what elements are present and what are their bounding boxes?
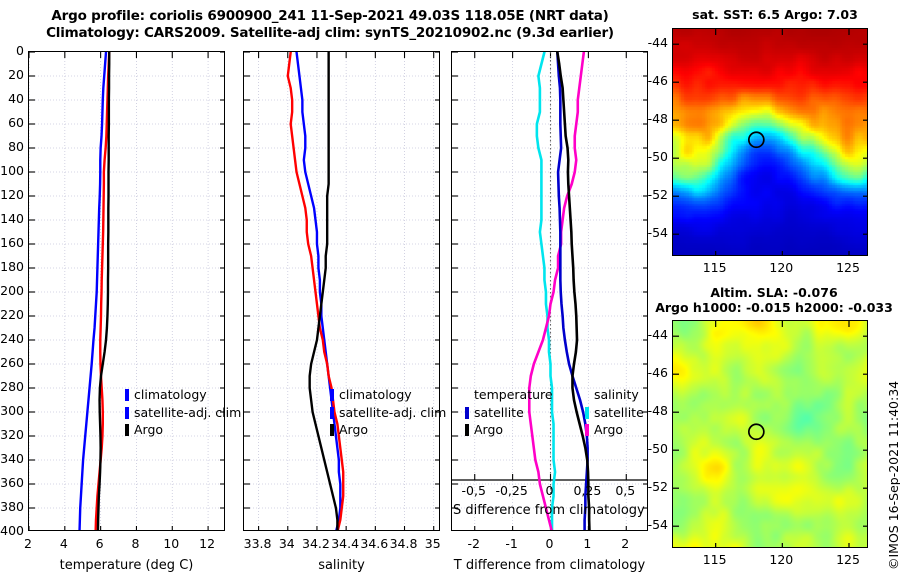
sla-map-lon-tick-120: 120 <box>759 552 803 567</box>
legend-swatch-icon <box>330 389 334 401</box>
difference-profile-panel[interactable] <box>451 51 648 531</box>
depth-tick-200: 200 <box>0 283 24 298</box>
sla-map-lon-tick-115: 115 <box>693 552 737 567</box>
salinity-profile-panel[interactable] <box>243 51 440 531</box>
sla-map-title-line1: Altim. SLA: -0.076 <box>648 285 900 300</box>
legend-swatch-icon <box>330 424 334 436</box>
sla-map-title-line2: Argo h1000: -0.015 h2000: -0.033 <box>648 300 900 315</box>
sla-map-lon-tick-125: 125 <box>826 552 870 567</box>
salinity-axis-label: salinity <box>243 558 440 573</box>
legend-item: Argo <box>585 421 639 439</box>
legend-label: Argo <box>594 421 623 439</box>
legend-swatch-icon <box>585 424 589 436</box>
main-title-line1: Argo profile: coriolis 6900900_241 11-Se… <box>0 8 660 25</box>
temperature-axis-label: temperature (deg C) <box>28 558 225 573</box>
legend-swatch-icon <box>125 407 129 419</box>
sst-map-lon-tick-125: 125 <box>826 260 870 275</box>
legend-label: satellite-adj. clim <box>339 404 446 422</box>
legend-label: Argo <box>339 421 368 439</box>
difference-legend-salinity: salinitysatelliteArgo <box>585 386 639 439</box>
legend-label: satellite <box>474 404 524 422</box>
depth-tick-320: 320 <box>0 427 24 442</box>
depth-tick-120: 120 <box>0 187 24 202</box>
depth-tick-80: 80 <box>0 139 24 154</box>
depth-tick-380: 380 <box>0 499 24 514</box>
sst-map-lat-tick-m48: -48 <box>632 111 668 126</box>
legend-label: Argo <box>474 421 503 439</box>
depth-tick-280: 280 <box>0 379 24 394</box>
sla-map-lat-tick-m44: -44 <box>632 327 668 342</box>
legend-label: climatology <box>339 386 412 404</box>
sla-map[interactable] <box>672 320 868 548</box>
legend-label: climatology <box>134 386 207 404</box>
legend-swatch-icon <box>465 407 469 419</box>
depth-tick-0: 0 <box>0 43 24 58</box>
legend-swatch-icon <box>330 407 334 419</box>
legend-item: satellite <box>465 404 553 422</box>
depth-tick-40: 40 <box>0 91 24 106</box>
salinity-tick-35: 35 <box>411 536 455 551</box>
depth-tick-100: 100 <box>0 163 24 178</box>
legend-item: Argo <box>465 421 553 439</box>
depth-tick-160: 160 <box>0 235 24 250</box>
depth-tick-260: 260 <box>0 355 24 370</box>
depth-tick-220: 220 <box>0 307 24 322</box>
depth-tick-360: 360 <box>0 475 24 490</box>
legend-header: salinity <box>585 386 639 404</box>
sla-map-lat-tick-m46: -46 <box>632 365 668 380</box>
sst-map-lat-tick-m44: -44 <box>632 35 668 50</box>
sst-map-lon-tick-115: 115 <box>693 260 737 275</box>
sla-map-lat-tick-m50: -50 <box>632 441 668 456</box>
depth-tick-140: 140 <box>0 211 24 226</box>
legend-item: satellite <box>585 404 639 422</box>
main-title-line2: Climatology: CARS2009. Satellite-adj cli… <box>0 25 660 42</box>
legend-header: temperature <box>465 386 553 404</box>
tdiff-tick-2: 2 <box>603 536 647 551</box>
depth-tick-340: 340 <box>0 451 24 466</box>
legend-label: Argo <box>134 421 163 439</box>
sst-map-lat-tick-m46: -46 <box>632 73 668 88</box>
temperature-tick-12: 12 <box>185 536 229 551</box>
depth-tick-180: 180 <box>0 259 24 274</box>
legend-swatch-icon <box>585 407 589 419</box>
legend-swatch-icon <box>465 424 469 436</box>
sla-map-lat-tick-m52: -52 <box>632 479 668 494</box>
difference-outer-axis-label: T difference from climatology <box>451 558 648 573</box>
temperature-profile-panel[interactable] <box>28 51 225 531</box>
legend-label: satellite-adj. clim <box>134 404 241 422</box>
sst-map-lat-tick-m52: -52 <box>632 187 668 202</box>
sst-map-lat-tick-m50: -50 <box>632 149 668 164</box>
sla-map-lat-tick-m48: -48 <box>632 403 668 418</box>
copyright-label: ©IMOS 16-Sep-2021 11:40:34 <box>886 381 900 570</box>
sla-map-title: Altim. SLA: -0.076 Argo h1000: -0.015 h2… <box>648 285 900 315</box>
sst-map-lon-tick-120: 120 <box>759 260 803 275</box>
sla-map-lat-tick-m54: -54 <box>632 517 668 532</box>
difference-legend-temperature: temperaturesatelliteArgo <box>465 386 553 439</box>
sst-map-lat-tick-m54: -54 <box>632 225 668 240</box>
sst-map[interactable] <box>672 28 868 256</box>
depth-tick-60: 60 <box>0 115 24 130</box>
main-title: Argo profile: coriolis 6900900_241 11-Se… <box>0 8 660 42</box>
legend-swatch-icon <box>125 389 129 401</box>
sst-map-title: sat. SST: 6.5 Argo: 7.03 <box>660 7 890 22</box>
depth-tick-300: 300 <box>0 403 24 418</box>
depth-tick-20: 20 <box>0 67 24 82</box>
depth-tick-240: 240 <box>0 331 24 346</box>
legend-swatch-icon <box>125 424 129 436</box>
difference-inner-axis-label: S difference from climatology <box>451 503 648 518</box>
